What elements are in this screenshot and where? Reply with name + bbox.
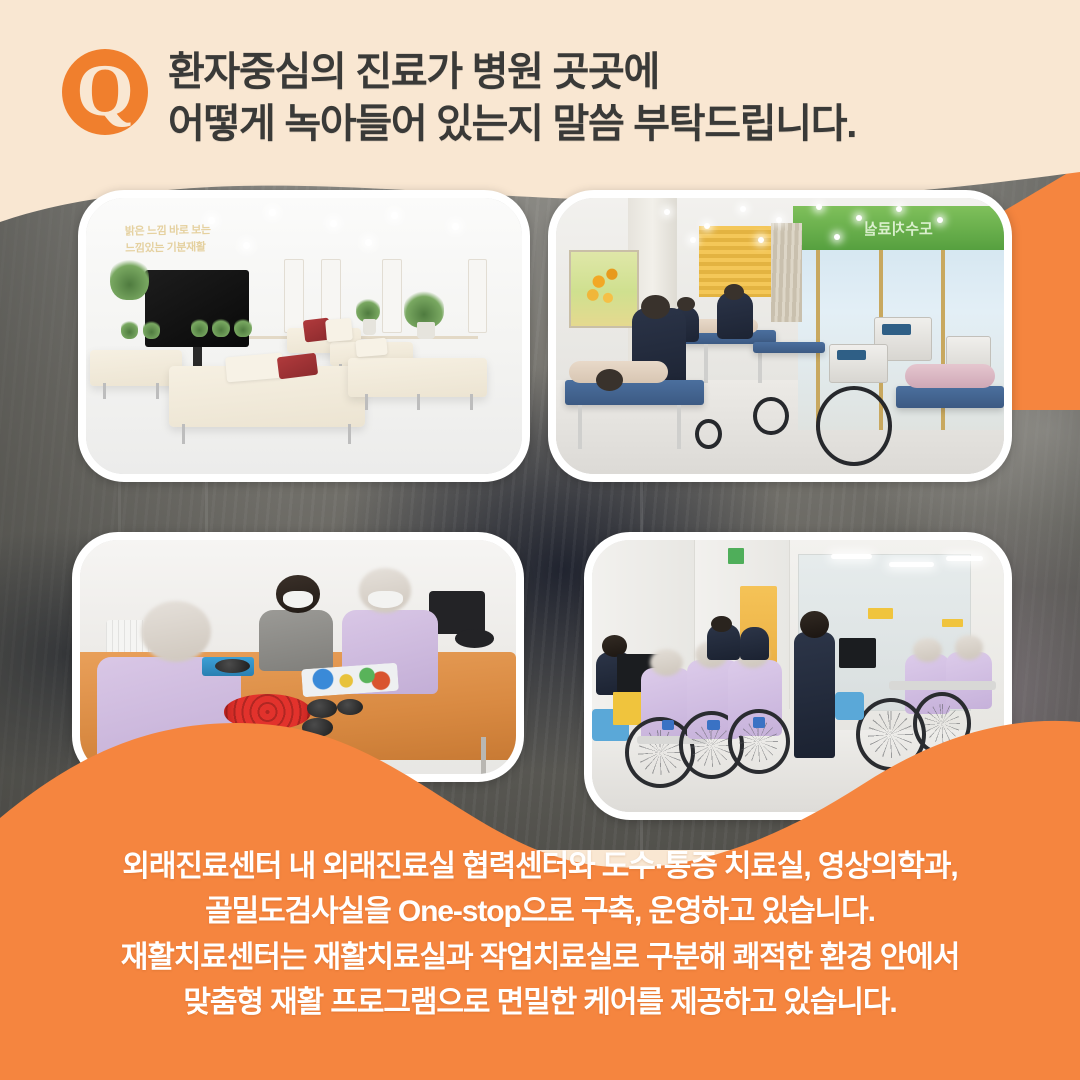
caption-line-3: 재활치료센터는 재활치료실과 작업치료실로 구분해 쾌적한 환경 안에서: [40, 935, 1040, 981]
caption-line-2: 골밀도검사실을 One-stop으로 구축, 운영하고 있습니다.: [40, 889, 1040, 935]
header: Q 환자중심의 진료가 병원 곳곳에 어떻게 녹아들어 있는지 말씀 부탁드립니…: [0, 0, 1080, 175]
caption-line-4: 맞춤형 재활 프로그램으로 면밀한 케어를 제공하고 있습니다.: [40, 980, 1040, 1026]
exit-sign: [728, 548, 744, 564]
page-title: 환자중심의 진료가 병원 곳곳에 어떻게 녹아들어 있는지 말씀 부탁드립니다.: [168, 46, 856, 150]
sunflower-painting: [569, 250, 638, 327]
question-badge: Q: [62, 49, 148, 135]
lounge-wall-text: 밝은 느낌 바로 보는느낌있는 기분재활: [125, 222, 211, 256]
caption-line-1: 외래진료센터 내 외래진료실 협력센터와 도수·통증 치료실, 영상의학과,: [40, 844, 1040, 890]
infographic-card: Q 환자중심의 진료가 병원 곳곳에 어떻게 녹아들어 있는지 말씀 부탁드립니…: [0, 0, 1080, 1080]
scene-waiting-lounge: 밝은 느낌 바로 보는느낌있는 기분재활: [86, 198, 522, 474]
headline-line-2: 어떻게 녹아들어 있는지 말씀 부탁드립니다.: [168, 98, 856, 150]
scene-physical-therapy: 도수치료실: [556, 198, 1004, 474]
photo-card-physical-therapy: 도수치료실: [548, 190, 1012, 482]
therapy-room-sign: 도수치료실: [793, 206, 1004, 250]
headline-line-1: 환자중심의 진료가 병원 곳곳에: [168, 46, 856, 98]
caption-block: 외래진료센터 내 외래진료실 협력센터와 도수·통증 치료실, 영상의학과, 골…: [0, 844, 1080, 1080]
photo-card-waiting-lounge: 밝은 느낌 바로 보는느낌있는 기분재활: [78, 190, 530, 482]
question-badge-letter: Q: [76, 54, 134, 128]
